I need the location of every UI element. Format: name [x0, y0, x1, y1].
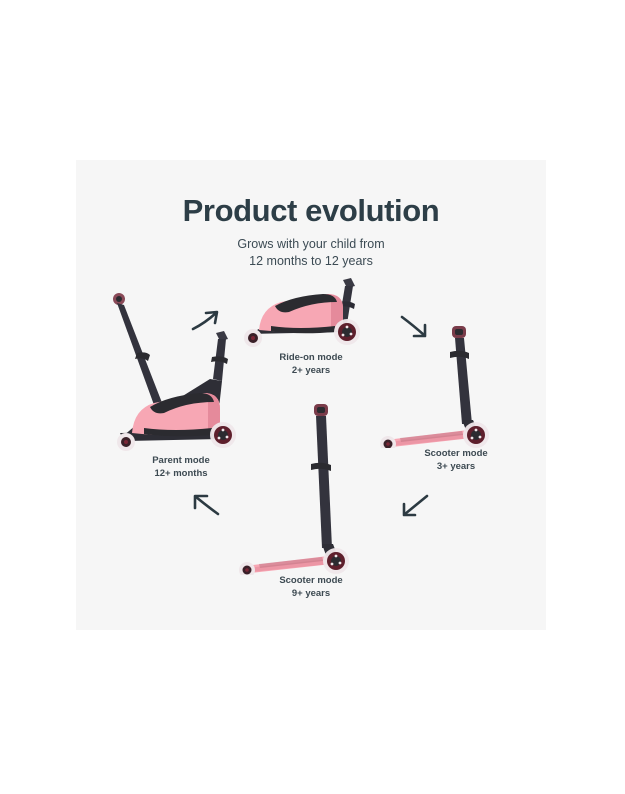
scooter-9-illustration [231, 400, 391, 575]
stage-label-scooter-9: Scooter mode 9+ years [231, 575, 391, 600]
arrow-down-right-icon [398, 312, 432, 345]
arrow-down-left-icon [398, 492, 432, 525]
stage-label-scooter-3: Scooter mode 3+ years [376, 448, 536, 473]
stage-scooter-mode-9: Scooter mode 9+ years [231, 400, 391, 600]
arrow-up-right-icon [189, 308, 223, 339]
arrow-up-left-icon [189, 492, 223, 525]
stage-name: Scooter mode [376, 448, 536, 461]
subtitle-line-2: 12 months to 12 years [76, 253, 546, 270]
page-subtitle: Grows with your child from 12 months to … [76, 236, 546, 270]
stage-name: Scooter mode [231, 575, 391, 588]
stage-age: 9+ years [231, 588, 391, 601]
page-title: Product evolution [76, 193, 546, 229]
product-evolution-panel: Product evolution Grows with your child … [76, 160, 546, 630]
stage-age: 3+ years [376, 461, 536, 474]
subtitle-line-1: Grows with your child from [76, 236, 546, 253]
